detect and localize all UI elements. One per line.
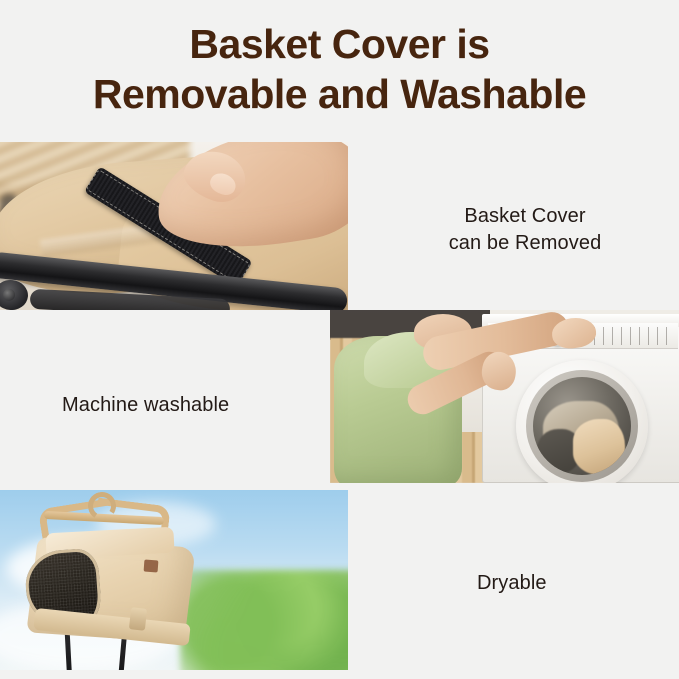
caption-dryable: Dryable <box>380 570 668 597</box>
caption-washable-line-1: Machine washable <box>62 392 308 419</box>
page-title-line-1: Basket Cover is <box>0 24 679 65</box>
caption-dryable-line-1: Dryable <box>477 570 668 597</box>
caption-basket-cover-removable: Basket Cover can be Removed <box>381 203 669 257</box>
hanging-cover-outdoors-photo <box>0 490 348 670</box>
laundry-item <box>573 419 625 475</box>
page-title-line-2: Removable and Washable <box>0 74 679 115</box>
washing-machine-photo <box>330 310 679 483</box>
caption-removable-line-2: can be Removed <box>381 230 669 257</box>
cover-buckle <box>129 607 147 631</box>
washer-door-glass <box>533 377 631 475</box>
page-title: Basket Cover is Removable and Washable <box>0 24 679 115</box>
infographic-canvas: Basket Cover is Removable and Washable B… <box>0 0 679 679</box>
brand-logo-patch <box>144 560 159 573</box>
hand-lifting-velcro-cover-photo <box>0 142 348 310</box>
caption-machine-washable: Machine washable <box>18 392 308 419</box>
blurred-green-trees <box>180 570 348 670</box>
caption-removable-line-1: Basket Cover <box>381 203 669 230</box>
